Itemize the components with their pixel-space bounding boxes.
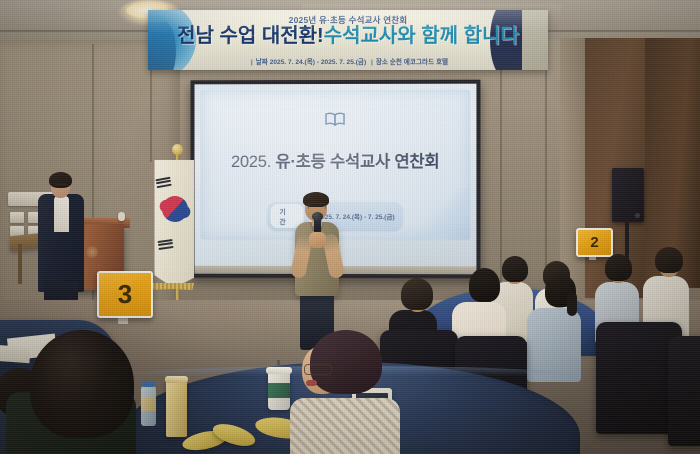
fg-mid-lace-top (290, 398, 400, 454)
flag-finial (172, 144, 183, 155)
slide-title-year: 2025. (231, 153, 271, 171)
banner-headline-part2: 수석교사와 함께 합니다 (324, 25, 519, 47)
fg-left-hair (30, 330, 134, 438)
presentation-slide: 2025. 유·초등 수석교사 연찬회 기 간 2025. 7. 24.(목) … (200, 90, 470, 240)
power-outlet-1 (10, 212, 24, 223)
audience-1-hair (502, 256, 528, 282)
microphone-head-icon (312, 212, 323, 221)
banner-sep-1: | (251, 59, 253, 66)
open-book-icon (324, 112, 346, 126)
banner-headline: 전남 수업 대전환!수석교사와 함께 합니다 (148, 25, 548, 47)
banner-place-label: 장소 (376, 59, 388, 66)
banner-place-value: 순천 에코그라드 호텔 (390, 59, 448, 66)
yellow-tumbler (166, 379, 187, 437)
fg-mid-glasses-icon (304, 364, 332, 375)
audience-3-hair (605, 254, 632, 281)
table-number-placard-2: 2 (576, 228, 613, 257)
coffee-cup-lid (266, 367, 292, 374)
banner-date-value: 2025. 7. 24.(목) - 2025. 7. 25.(금) (270, 59, 366, 66)
water-bottle-cap (142, 381, 155, 387)
audience-5-hair (401, 278, 433, 310)
trigram-geon (155, 175, 172, 190)
conference-photo: 2025년 유·초등 수석교사 연찬회 전남 수업 대전환!수석교사와 함께 합… (0, 0, 700, 454)
banner-details: |날짜 2025. 7. 24.(목) - 2025. 7. 25.(금) |장… (148, 56, 548, 66)
side-table-leg-left (18, 244, 22, 284)
slide-title: 2025. 유·초등 수석교사 연찬회 (200, 148, 470, 172)
main-speaker-hands (309, 232, 326, 248)
banner-date-label: 날짜 (256, 59, 268, 66)
table-number-placard-3: 3 (97, 271, 153, 318)
podium-emblem (86, 246, 98, 258)
podium-microphone-icon (118, 212, 125, 221)
podium-speaker-glasses-icon (55, 184, 68, 189)
slide-title-text: 유·초등 수석교사 연찬회 (276, 153, 440, 171)
main-speaker-glasses-icon (308, 203, 326, 209)
banner-sep-2: | (371, 59, 373, 66)
audience-4-hair (655, 247, 683, 273)
event-banner: 2025년 유·초등 수석교사 연찬회 전남 수업 대전환!수석교사와 함께 합… (148, 10, 548, 70)
coffee-cup-sleeve (268, 383, 290, 398)
water-bottle-label (141, 398, 156, 411)
pa-speaker-icon (612, 168, 644, 222)
podium-speaker-shirt (54, 196, 69, 232)
fg-mid-hair (310, 330, 382, 394)
slide-corner-accent (412, 188, 470, 240)
slide-period-value: 2025. 7. 24.(목) - 7. 25.(금) (318, 211, 395, 221)
paper-sheet-2 (0, 345, 31, 363)
audience-7-ponytail (567, 292, 577, 316)
wall-seam-4 (545, 44, 547, 294)
tumbler-lid (165, 376, 188, 383)
fg-mid-mouth (306, 380, 317, 386)
audience-6-hair (469, 268, 500, 302)
trigram-gon (157, 237, 174, 251)
banner-headline-part1: 전남 수업 대전환! (177, 25, 324, 47)
chair-back-4 (668, 336, 700, 446)
wall-seam-3 (500, 44, 502, 294)
flag-fringe (152, 283, 194, 290)
